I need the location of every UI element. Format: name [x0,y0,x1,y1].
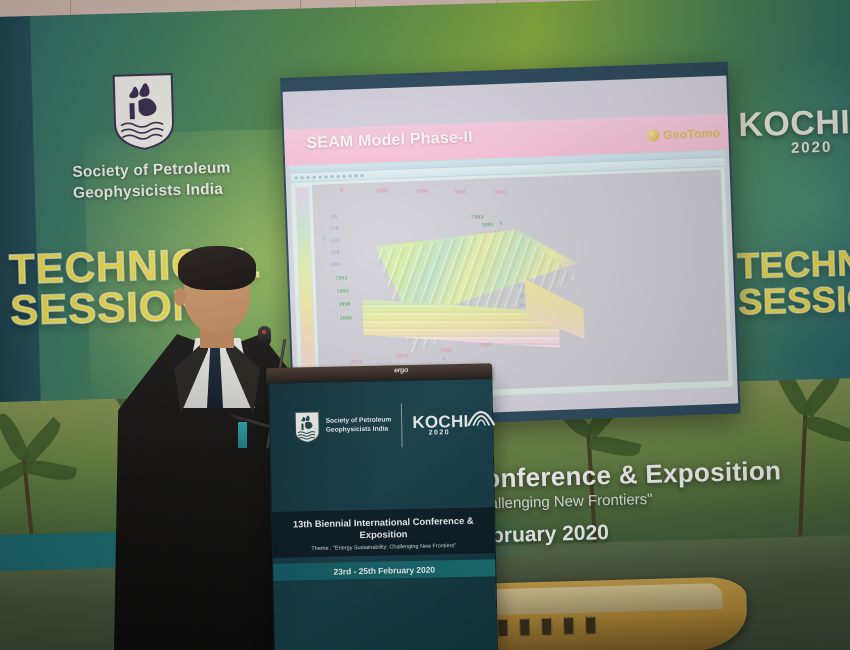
podium-front-panel: Society of Petroleum Geophysicists India… [268,378,498,650]
axis-tick-x: 3998 [396,353,408,359]
podium-spg-logo: Society of Petroleum Geophysicists India [293,409,391,443]
podium-brand-label: ergo [394,367,408,374]
technical-session-heading-right: TECHNICAL SESSION [737,242,850,320]
podium-date-band: 23rd - 25th February 2020 [273,559,495,581]
kochi-2020-logo-backdrop: KOCHI 2020 [738,103,850,158]
axis-tick-y: 3998 [338,302,350,308]
shield-icon [293,411,320,444]
axis-tick-top: 2000 [376,188,388,194]
axis-tick-x: 2000 [350,359,362,365]
houseboat-arch-icon [464,397,499,432]
axis-tick-z-left: 310 [330,250,339,256]
geotomo-globe-icon [647,129,659,141]
geotomo-wordmark: GeoTomo [663,126,721,142]
axis-label-y: Y [499,222,503,227]
axis-tick-y: 5995 [337,289,349,295]
podium-kochi-logo: KOCHI 2020 [412,412,469,437]
axis-tick-z-left: 40 [331,214,337,220]
spg-shield-logo [112,72,176,152]
speaker-podium: ergo [268,363,504,650]
backdrop-organization-name: Society of Petroleum Geophysicists India [72,158,263,205]
podium-conference-band: 13th Biennial International Conference &… [272,507,495,558]
podium-theme-text: Theme : "Energy Sustainability: Challeng… [281,543,487,553]
axis-tick-top: 5995 [454,189,466,195]
axis-label-x: X [442,357,446,362]
axis-tick-y: 7993 [335,276,347,282]
axis-tick-z-left: 220 [330,238,339,244]
logo-divider [401,403,403,447]
axis-tick-top: 0 [340,188,343,194]
avatar [238,422,247,448]
axis-tick-top: 7993 [494,190,506,196]
axis-tick-x: 7993 [480,342,492,348]
axis-tick-x: 5995 [440,348,452,354]
microphone-capsule [258,326,271,346]
microphone-indicator-light [262,330,266,334]
session-label: SESSION [738,278,850,320]
model-3d-canvas: 0 2000 3998 5995 7993 40 150 220 310 400… [312,170,728,396]
seismic-velocity-cube [348,227,580,355]
presentation-photo: Society of Petroleum Geophysicists India… [0,0,850,650]
hair [178,246,256,290]
geotomo-logo: GeoTomo [647,126,721,143]
shield-icon [112,72,176,152]
podium-logo-row: Society of Petroleum Geophysicists India… [270,401,493,450]
axis-tick-y-right: 7993 [471,215,483,221]
axis-tick-z-left: 150 [329,226,338,232]
podium-conference-title: 13th Biennial International Conference &… [280,514,486,543]
axis-tick-y-right: 5995 [481,222,493,228]
kochi-wordmark: KOCHI [738,103,850,144]
podium-organization-name: Society of Petroleum Geophysicists India [326,417,392,435]
axis-tick-z-left: 400 [331,262,340,268]
axis-tick-top: 3998 [416,189,428,195]
axis-label-z-left: Z [322,237,326,242]
org-line-2: Geophysicists India [326,425,392,435]
podium-dates: 23rd - 25th February 2020 [333,564,435,576]
ear [174,288,186,306]
